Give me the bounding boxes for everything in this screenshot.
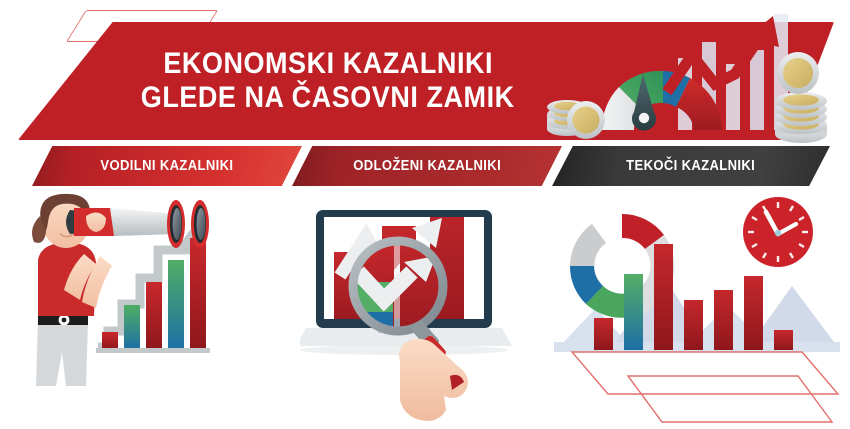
rising-bar-chart (96, 222, 210, 353)
tab-leading-indicators-label: VODILNI KAZALNIKI (100, 158, 233, 174)
tab-current-indicators[interactable]: TEKOČI KAZALNIKI (552, 146, 830, 186)
coin-stack-right (775, 52, 827, 143)
page-title-line-1: EKONOMSKI KAZALNIKI (163, 48, 493, 80)
tab-lagging-indicators-label: ODLOŽENI KAZALNIKI (353, 158, 501, 174)
infographic-canvas: EKONOMSKI KAZALNIKI GLEDE NA ČASOVNI ZAM… (0, 0, 850, 429)
indicator-tabs: VODILNI KAZALNIKI ODLOŽENI KAZALNIKI TEK… (0, 146, 850, 190)
tab-leading-indicators[interactable]: VODILNI KAZALNIKI (32, 146, 302, 186)
hero-illustration (530, 0, 850, 150)
page-title-line-2: GLEDE NA ČASOVNI ZAMIK (141, 82, 515, 114)
tab-lagging-indicators[interactable]: ODLOŽENI KAZALNIKI (292, 146, 562, 186)
decorative-parallelogram-outlines (572, 352, 838, 422)
panel-lagging-indicators (300, 190, 560, 429)
tab-current-indicators-label: TEKOČI KAZALNIKI (626, 158, 755, 174)
panel-current-indicators (550, 190, 850, 429)
clock-icon (743, 197, 813, 267)
coin-stack-left (547, 100, 605, 139)
panel-leading-indicators (0, 190, 300, 429)
